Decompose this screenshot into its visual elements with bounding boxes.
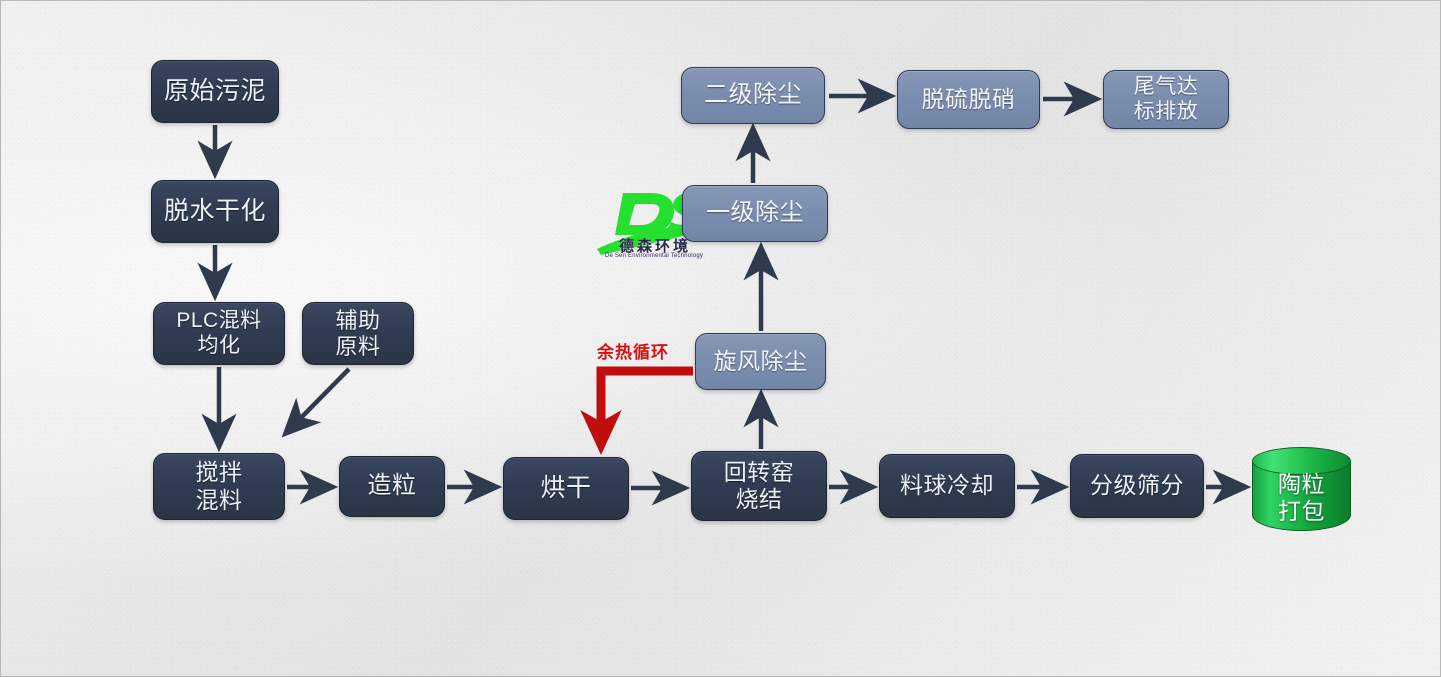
emission-standard-node[interactable]: 尾气达 标排放 — [1103, 70, 1229, 129]
stir-mix-node[interactable]: 搅拌 混料 — [153, 453, 285, 520]
raw-sludge-node[interactable]: 原始污泥 — [151, 60, 279, 123]
arrow-waste-heat-recycle — [601, 371, 693, 446]
cyclone-dust-node[interactable]: 旋风除尘 — [695, 333, 826, 390]
plc-mixing-node[interactable]: PLC混料 均化 — [153, 302, 285, 365]
waste-heat-label: 余热循环 — [597, 338, 669, 363]
primary-dust-node[interactable]: 一级除尘 — [682, 185, 828, 242]
flowchart-canvas: 德森环境 De Sen Environmental Technology 余热循… — [0, 0, 1441, 677]
granulation-node[interactable]: 造粒 — [339, 456, 445, 517]
ceramsite-packing-node[interactable]: 陶粒 打包 — [1252, 447, 1351, 531]
rotary-kiln-node[interactable]: 回转窑 烧结 — [691, 451, 827, 521]
drying-node[interactable]: 烘干 — [503, 457, 629, 520]
arrow-aux-to-stirmix — [286, 369, 349, 433]
dewater-dry-node[interactable]: 脱水干化 — [151, 180, 279, 243]
aux-material-node[interactable]: 辅助 原料 — [302, 302, 414, 365]
ceramsite-packing-label: 陶粒 打包 — [1252, 465, 1351, 531]
grading-screen-node[interactable]: 分级筛分 — [1070, 454, 1204, 518]
ball-cooling-node[interactable]: 料球冷却 — [879, 454, 1015, 518]
secondary-dust-node[interactable]: 二级除尘 — [681, 67, 825, 124]
desulf-denitr-node[interactable]: 脱硫脱硝 — [897, 70, 1040, 129]
logo-name-en: De Sen Environmental Technology — [597, 253, 711, 259]
